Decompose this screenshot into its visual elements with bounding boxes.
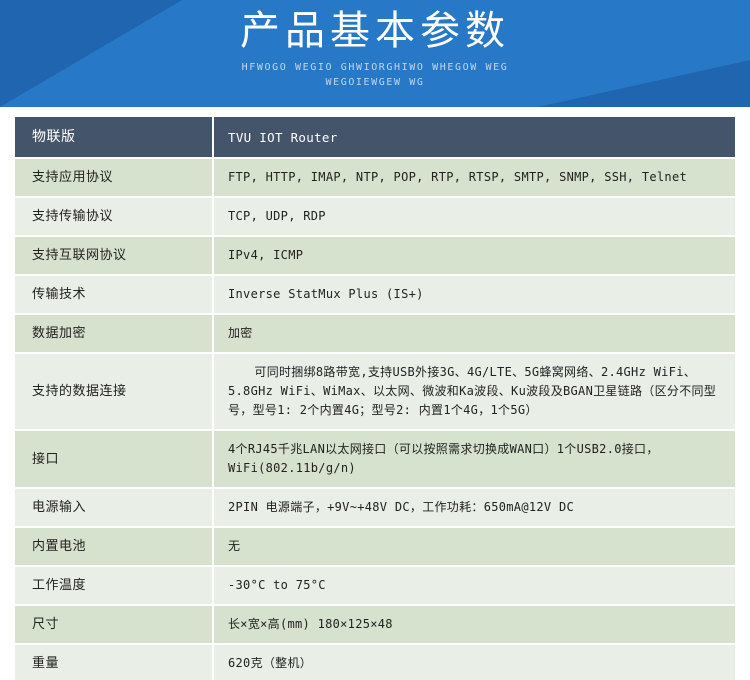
spec-value: 长×宽×高(mm) 180×125×48 — [213, 605, 735, 644]
spec-value: 4个RJ45千兆LAN以太网接口（可以按照需求切换成WAN口）1个USB2.0接… — [213, 430, 735, 488]
spec-value: -30°C to 75°C — [213, 566, 735, 605]
table-row: 接口 4个RJ45千兆LAN以太网接口（可以按照需求切换成WAN口）1个USB2… — [15, 430, 735, 488]
table-row: 重量 620克（整机） — [15, 644, 735, 680]
spec-table-body: 物联版 TVU IOT Router 支持应用协议 FTP, HTTP, IMA… — [15, 117, 735, 680]
page-banner: 产品基本参数 HFWOGO WEGIO GHWIORGHIWO WHEGOW W… — [0, 0, 750, 107]
spec-value: 620克（整机） — [213, 644, 735, 680]
table-header-key: 物联版 — [15, 117, 213, 158]
banner-subtitle-line-2: WEGOIEWGEW WG — [242, 75, 509, 90]
spec-key: 接口 — [15, 430, 213, 488]
banner-content: 产品基本参数 HFWOGO WEGIO GHWIORGHIWO WHEGOW W… — [0, 0, 750, 107]
table-row: 内置电池 无 — [15, 527, 735, 566]
spec-key: 支持的数据连接 — [15, 353, 213, 430]
table-row: 工作温度 -30°C to 75°C — [15, 566, 735, 605]
spec-value: TCP, UDP, RDP — [213, 197, 735, 236]
table-row: 支持传输协议 TCP, UDP, RDP — [15, 197, 735, 236]
spec-key: 尺寸 — [15, 605, 213, 644]
spec-table-container: 物联版 TVU IOT Router 支持应用协议 FTP, HTTP, IMA… — [0, 107, 750, 680]
banner-subtitle-line-1: HFWOGO WEGIO GHWIORGHIWO WHEGOW WEG — [242, 60, 509, 75]
spec-value: 加密 — [213, 314, 735, 353]
table-row: 支持的数据连接 可同时捆绑8路带宽,支持USB外接3G、4G/LTE、5G蜂窝网… — [15, 353, 735, 430]
table-row: 电源输入 2PIN 电源端子，+9V~+48V DC，工作功耗：650mA@12… — [15, 488, 735, 527]
table-row: 数据加密 加密 — [15, 314, 735, 353]
spec-key: 重量 — [15, 644, 213, 680]
spec-key: 传输技术 — [15, 275, 213, 314]
spec-value: FTP, HTTP, IMAP, NTP, POP, RTP, RTSP, SM… — [213, 158, 735, 197]
spec-key: 数据加密 — [15, 314, 213, 353]
spec-key: 工作温度 — [15, 566, 213, 605]
spec-key: 电源输入 — [15, 488, 213, 527]
spec-key: 内置电池 — [15, 527, 213, 566]
spec-value: 2PIN 电源端子，+9V~+48V DC，工作功耗：650mA@12V DC — [213, 488, 735, 527]
table-row: 支持应用协议 FTP, HTTP, IMAP, NTP, POP, RTP, R… — [15, 158, 735, 197]
table-row: 传输技术 Inverse StatMux Plus (IS+) — [15, 275, 735, 314]
spec-value: 无 — [213, 527, 735, 566]
spec-table: 物联版 TVU IOT Router 支持应用协议 FTP, HTTP, IMA… — [15, 117, 735, 680]
banner-subtitle: HFWOGO WEGIO GHWIORGHIWO WHEGOW WEG WEGO… — [242, 60, 509, 90]
spec-key: 支持应用协议 — [15, 158, 213, 197]
spec-key: 支持互联网协议 — [15, 236, 213, 275]
spec-value: IPv4, ICMP — [213, 236, 735, 275]
product-spec-page: 产品基本参数 HFWOGO WEGIO GHWIORGHIWO WHEGOW W… — [0, 0, 750, 680]
spec-value: Inverse StatMux Plus (IS+) — [213, 275, 735, 314]
table-row: 支持互联网协议 IPv4, ICMP — [15, 236, 735, 275]
spec-key: 支持传输协议 — [15, 197, 213, 236]
spec-value: 可同时捆绑8路带宽,支持USB外接3G、4G/LTE、5G蜂窝网络、2.4GHz… — [213, 353, 735, 430]
page-title: 产品基本参数 — [240, 6, 510, 56]
table-row: 尺寸 长×宽×高(mm) 180×125×48 — [15, 605, 735, 644]
table-header-row: 物联版 TVU IOT Router — [15, 117, 735, 158]
table-header-value: TVU IOT Router — [213, 117, 735, 158]
